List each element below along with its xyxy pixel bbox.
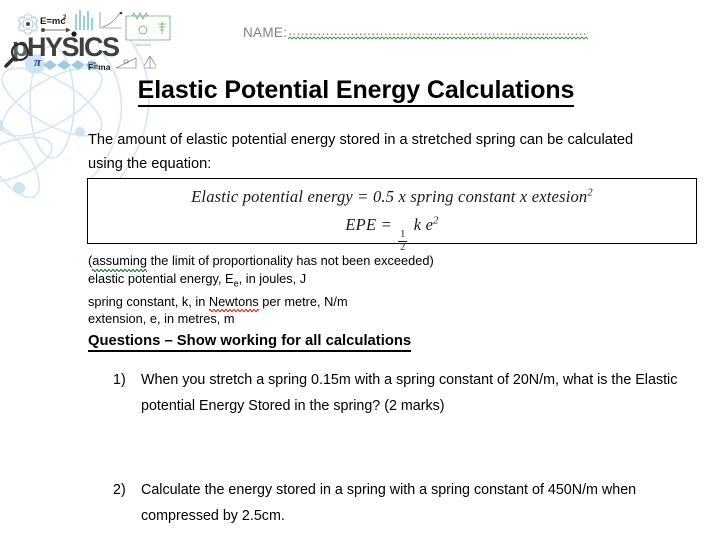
logo-emc2-text: E=mc [40,16,66,27]
definition-spring-constant: spring constant, k, in Newtons per metre… [88,293,434,311]
logo-pi-icon: π [34,54,42,69]
svg-text:INDUCTOR: INDUCTOR [135,43,152,47]
definition-epe-b: , in joules, J [239,271,307,286]
fraction-numerator: 1 [398,230,407,240]
name-field[interactable]: NAME: ..................................… [243,25,588,39]
physics-logo: E=mc 2 INDUCTOR pHYSICS π F [4,8,176,70]
equation-line2-exponent: 2 [433,216,438,227]
logo-wordmark: pHYSICS [12,32,119,62]
logo-fma-text: F=ma [88,62,111,70]
definition-epe-a: elastic potential energy, E [88,271,234,286]
equation-line1-exponent: 2 [587,188,592,199]
questions-heading: Questions – Show working for all calcula… [88,333,411,349]
questions-heading-text: Questions – Show working for all calcula… [88,333,411,352]
intro-paragraph: The amount of elastic potential energy s… [88,128,663,176]
grammar-squiggle-icon [288,36,588,40]
name-label: NAME: [243,26,287,40]
equation-line-words: Elastic potential energy = 0.5 x spring … [88,187,696,207]
definition-k-flagged-word: Newtons [209,293,259,311]
question-item: 1) When you stretch a spring 0.15m with … [113,367,698,419]
question-number: 1) [113,367,141,419]
definition-extension: extension, e, in metres, m [88,310,434,328]
equation-line1-text: Elastic potential energy = 0.5 x spring … [191,187,587,206]
question-number: 2) [113,477,141,529]
question-item: 2) Calculate the energy stored in a spri… [113,477,698,529]
definitions-list: (assuming the limit of proportionality h… [88,252,434,328]
equation-half-fraction: 1 2 [398,230,407,253]
assumption-rest: the limit of proportionality has not bee… [147,253,434,268]
page-title-text: Elastic Potential Energy Calculations [138,76,575,107]
definition-k-b: per metre, N/m [259,294,348,309]
name-dot-leader: ........................................… [288,24,588,38]
page-title: Elastic Potential Energy Calculations [0,76,712,105]
definition-k-a: spring constant, k, in [88,294,209,309]
assumption-flagged-word: assuming [92,252,147,270]
name-input-line[interactable]: ........................................… [288,25,588,39]
question-text: When you stretch a spring 0.15m with a s… [141,367,698,419]
equation-line2-lhs: EPE = [345,215,392,234]
question-text: Calculate the energy stored in a spring … [141,477,698,529]
equation-box: Elastic potential energy = 0.5 x spring … [87,178,697,244]
definition-assumption: (assuming the limit of proportionality h… [88,252,434,270]
equation-line-symbols: EPE = 1 2 k e2 [88,215,696,253]
equation-line2-rhs: k e [414,215,433,234]
definition-epe: elastic potential energy, Ee, in joules,… [88,270,434,293]
svg-text:2: 2 [63,15,67,21]
